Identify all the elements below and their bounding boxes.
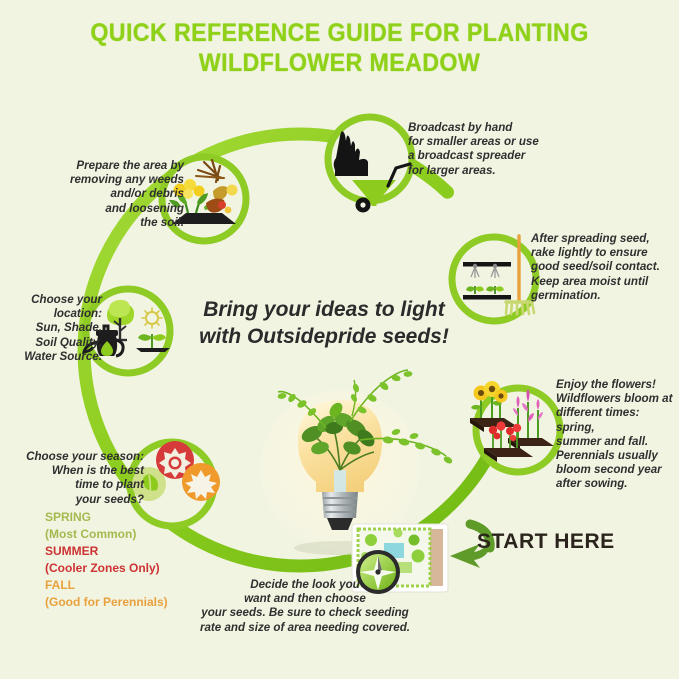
- callout-enjoy-flowers: Enjoy the flowers! Wildflowers bloom at …: [556, 378, 679, 492]
- infographic-canvas: QUICK REFERENCE GUIDE FOR PLANTING WILDF…: [0, 0, 679, 679]
- plant-in-bulb-icon: [299, 400, 378, 470]
- callout-location: Choose your location: Sun, Shade, Soil Q…: [8, 293, 102, 364]
- callout-broadcast: Broadcast by hand for smaller areas or u…: [408, 121, 568, 178]
- season-summer-name: SUMMER: [45, 543, 205, 560]
- node-rake[interactable]: [452, 236, 536, 321]
- sprinkler-seedlings-icon: [463, 262, 511, 300]
- page-title: QUICK REFERENCE GUIDE FOR PLANTING WILDF…: [24, 18, 655, 78]
- title-line-2: WILDFLOWER MEADOW: [24, 48, 655, 78]
- callout-choose-season: Choose your season: When is the best tim…: [8, 450, 144, 507]
- title-line-1: QUICK REFERENCE GUIDE FOR PLANTING: [90, 19, 588, 47]
- vines-icon: [277, 370, 453, 465]
- sun-seedling-icon: [136, 308, 170, 352]
- tree-icon: [107, 300, 134, 340]
- callout-prepare-area: Prepare the area by removing any weeds a…: [50, 159, 184, 230]
- broadcast-spreader-icon: [352, 164, 410, 213]
- flower-beds-icon: [470, 381, 554, 462]
- center-tagline: Bring your ideas to light with Outsidepr…: [188, 296, 460, 350]
- node-enjoy-flowers[interactable]: [470, 381, 560, 472]
- season-spring-note: (Most Common): [45, 526, 205, 543]
- season-badges-icon: [132, 441, 220, 501]
- lightbulb-graphic: [260, 370, 453, 555]
- callout-rake: After spreading seed, rake lightly to en…: [531, 232, 679, 303]
- start-here-label: START HERE: [477, 530, 615, 554]
- callout-decide-look: Decide the look you want and then choose…: [150, 578, 460, 635]
- rake-icon: [506, 236, 534, 314]
- season-summer-note: (Cooler Zones Only): [45, 560, 205, 577]
- hand-seeding-icon: [334, 131, 368, 176]
- debris-icon: [196, 160, 238, 213]
- season-spring-name: SPRING: [45, 509, 205, 526]
- node-broadcast[interactable]: [328, 117, 412, 213]
